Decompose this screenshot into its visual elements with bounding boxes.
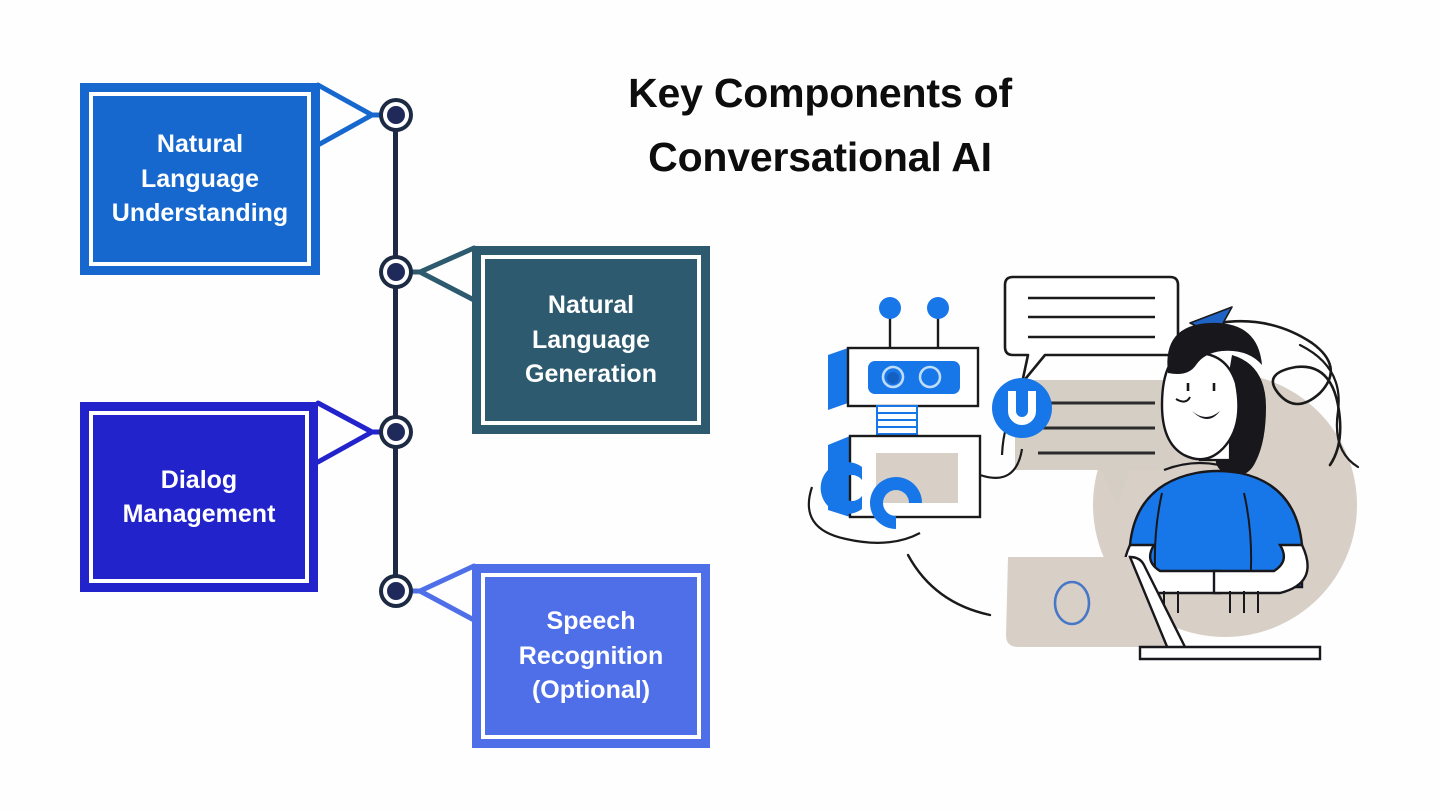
page-title: Key Components of Conversational AI bbox=[560, 62, 1080, 189]
timeline-node-3-ring bbox=[383, 419, 409, 445]
timeline-axis bbox=[393, 112, 398, 594]
speech-bubble-outline bbox=[1005, 277, 1178, 383]
component-box-speech[interactable]: Speech Recognition (Optional) bbox=[472, 564, 710, 748]
timeline-node-1[interactable] bbox=[379, 98, 413, 132]
robot-head-side-panel bbox=[828, 348, 848, 410]
component-box-dialog[interactable]: Dialog Management bbox=[80, 402, 318, 592]
component-box-speech-line-3: (Optional) bbox=[519, 673, 663, 708]
timeline-node-4-core bbox=[387, 582, 405, 600]
component-box-nlu[interactable]: Natural Language Understanding bbox=[80, 83, 320, 275]
component-box-nlg-line-3: Generation bbox=[525, 357, 657, 392]
timeline-node-3[interactable] bbox=[379, 415, 413, 449]
timeline-node-1-core bbox=[387, 106, 405, 124]
component-box-nlu-line-2: Language bbox=[112, 162, 288, 197]
page-title-line-2: Conversational AI bbox=[560, 126, 1080, 190]
component-box-nlg-label: Natural Language Generation bbox=[525, 288, 657, 392]
timeline-node-4-ring bbox=[383, 578, 409, 604]
connector-nlu bbox=[318, 85, 372, 145]
component-box-nlg[interactable]: Natural Language Generation bbox=[472, 246, 710, 434]
page-title-line-1: Key Components of bbox=[560, 62, 1080, 126]
component-box-dialog-label: Dialog Management bbox=[123, 463, 276, 532]
timeline-node-1-ring bbox=[383, 102, 409, 128]
conversational-ai-illustration bbox=[800, 255, 1420, 695]
robot-badge-circle bbox=[992, 378, 1052, 438]
connector-dialog bbox=[318, 403, 372, 462]
timeline-node-2-core bbox=[387, 263, 405, 281]
component-box-dialog-line-1: Dialog bbox=[123, 463, 276, 498]
component-box-dialog-line-2: Management bbox=[123, 497, 276, 532]
timeline-node-2[interactable] bbox=[379, 255, 413, 289]
timeline-node-4[interactable] bbox=[379, 574, 413, 608]
robot-eye-left-pupil-icon bbox=[887, 372, 899, 384]
component-box-speech-label: Speech Recognition (Optional) bbox=[519, 604, 663, 708]
laptop-keyboard-base bbox=[1140, 647, 1320, 659]
component-box-nlu-label: Natural Language Understanding bbox=[112, 127, 288, 231]
robot-antenna-right-tip-icon bbox=[927, 297, 949, 319]
component-box-nlu-line-3: Understanding bbox=[112, 196, 288, 231]
component-box-nlg-line-2: Language bbox=[525, 323, 657, 358]
component-box-nlu-line-1: Natural bbox=[112, 127, 288, 162]
arc-line bbox=[908, 555, 990, 615]
connector-nlg bbox=[420, 248, 474, 300]
robot-antenna-left-tip-icon bbox=[879, 297, 901, 319]
timeline-node-2-ring bbox=[383, 259, 409, 285]
timeline-node-3-core bbox=[387, 423, 405, 441]
component-box-speech-line-1: Speech bbox=[519, 604, 663, 639]
component-box-speech-line-2: Recognition bbox=[519, 639, 663, 674]
component-box-nlg-line-1: Natural bbox=[525, 288, 657, 323]
connector-speech bbox=[420, 566, 474, 620]
diagram-canvas: Key Components of Conversational AI bbox=[0, 0, 1440, 810]
